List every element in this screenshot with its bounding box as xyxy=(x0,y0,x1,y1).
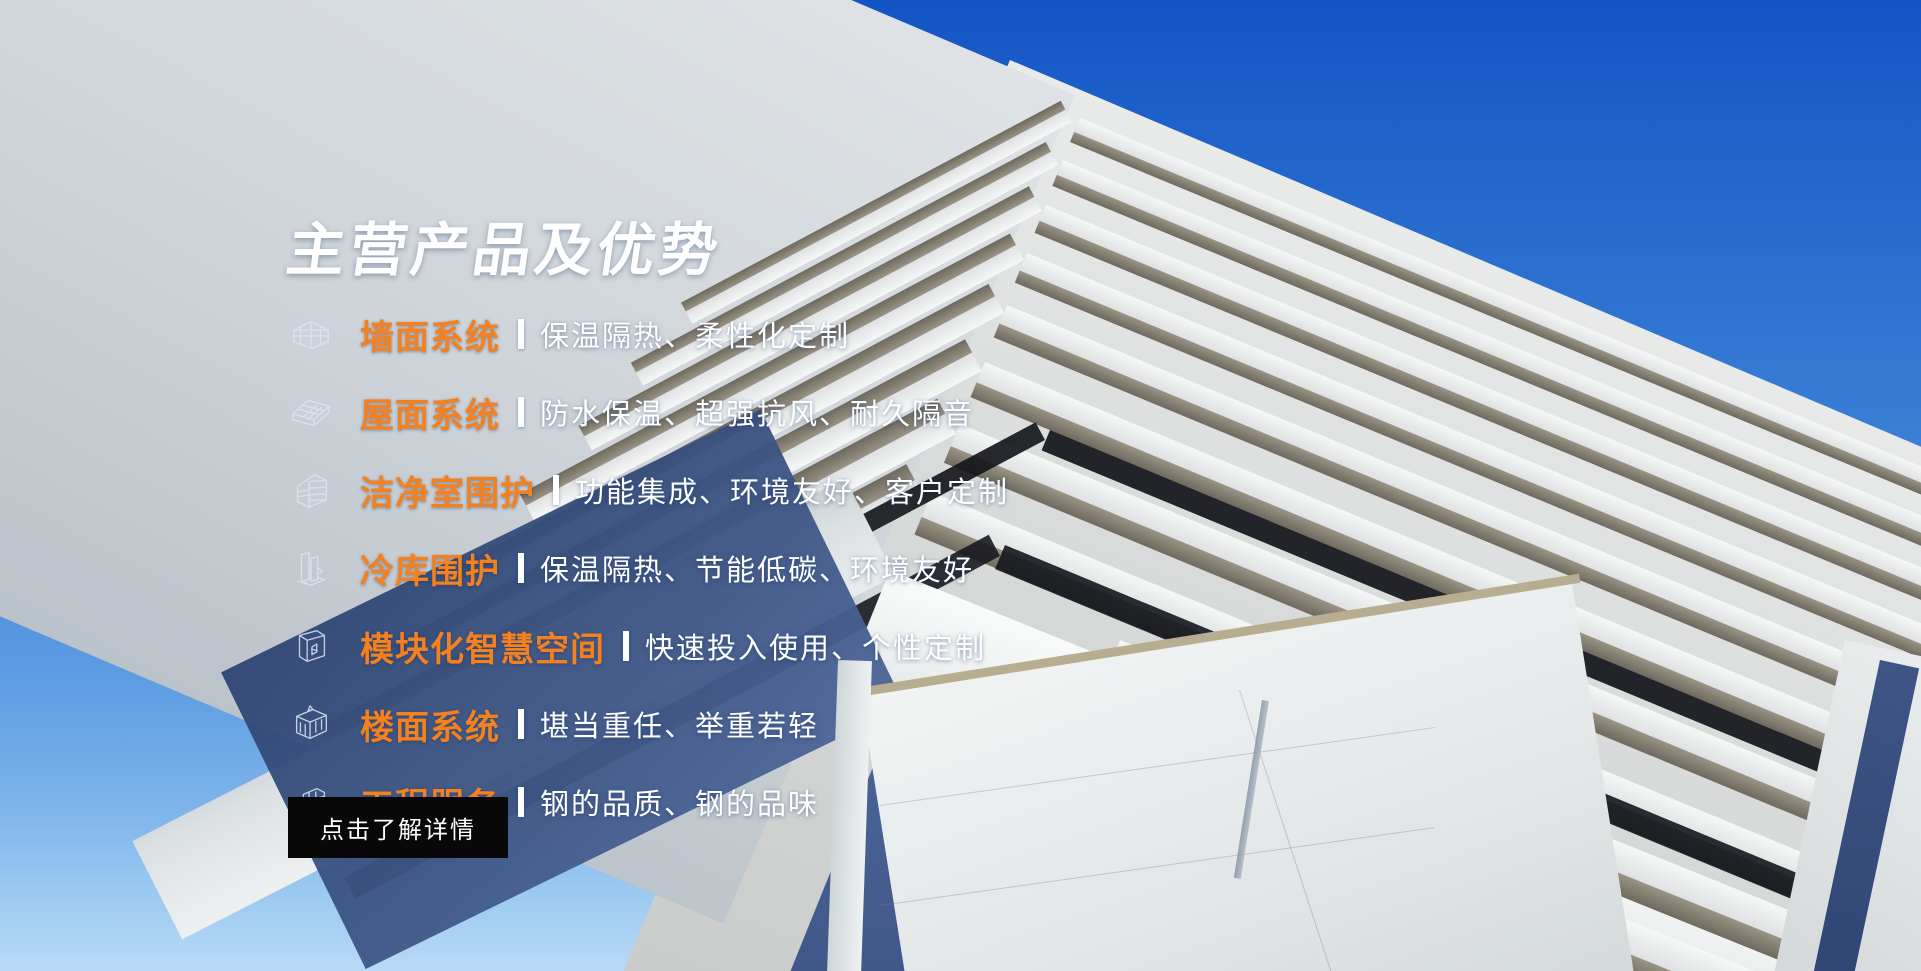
divider xyxy=(518,553,524,583)
list-item[interactable]: 冷库围护 保温隔热、节能低碳、环境友好 xyxy=(288,529,1009,607)
product-list: 墙面系统 保温隔热、柔性化定制 屋面系统 防水保温、超强抗风、耐久隔音 xyxy=(288,295,1009,841)
wall-system-icon xyxy=(288,311,334,357)
hero-banner: 主营产品及优势 墙面系统 保温隔热、柔性化定制 xyxy=(0,0,1921,971)
list-item[interactable]: 洁净室围护 功能集成、环境友好、客户定制 xyxy=(288,451,1009,529)
list-item-desc: 防水保温、超强抗风、耐久隔音 xyxy=(540,391,974,433)
list-item-desc: 钢的品质、钢的品味 xyxy=(540,781,819,823)
cleanroom-envelope-icon xyxy=(288,467,334,513)
list-item[interactable]: 模块化智慧空间 快速投入使用、个性定制 xyxy=(288,607,1009,685)
divider xyxy=(623,631,629,661)
cold-storage-icon xyxy=(288,545,334,591)
list-item-desc: 快速投入使用、个性定制 xyxy=(645,625,986,667)
list-item-name: 模块化智慧空间 xyxy=(360,622,605,671)
list-item-desc: 保温隔热、柔性化定制 xyxy=(540,313,850,355)
hero-content: 主营产品及优势 墙面系统 保温隔热、柔性化定制 xyxy=(0,0,1000,971)
list-item[interactable]: 楼面系统 堪当重任、举重若轻 xyxy=(288,685,1009,763)
learn-more-button[interactable]: 点击了解详情 xyxy=(288,797,508,858)
divider xyxy=(518,397,524,427)
floor-system-icon xyxy=(288,701,334,747)
divider xyxy=(553,475,559,505)
list-item[interactable]: 屋面系统 防水保温、超强抗风、耐久隔音 xyxy=(288,373,1009,451)
list-item[interactable]: 墙面系统 保温隔热、柔性化定制 xyxy=(288,295,1009,373)
list-item-name: 冷库围护 xyxy=(360,544,500,593)
divider xyxy=(518,319,524,349)
divider xyxy=(518,787,524,817)
list-item-desc: 堪当重任、举重若轻 xyxy=(540,703,819,745)
list-item-name: 洁净室围护 xyxy=(360,466,535,515)
list-item-desc: 保温隔热、节能低碳、环境友好 xyxy=(540,547,974,589)
list-item-name: 屋面系统 xyxy=(360,388,500,437)
page-title: 主营产品及优势 xyxy=(282,203,728,287)
modular-space-icon xyxy=(288,623,334,669)
list-item-desc: 功能集成、环境友好、客户定制 xyxy=(575,469,1009,511)
list-item-name: 墙面系统 xyxy=(360,310,500,359)
divider xyxy=(518,709,524,739)
roof-system-icon xyxy=(288,389,334,435)
list-item-name: 楼面系统 xyxy=(360,700,500,749)
